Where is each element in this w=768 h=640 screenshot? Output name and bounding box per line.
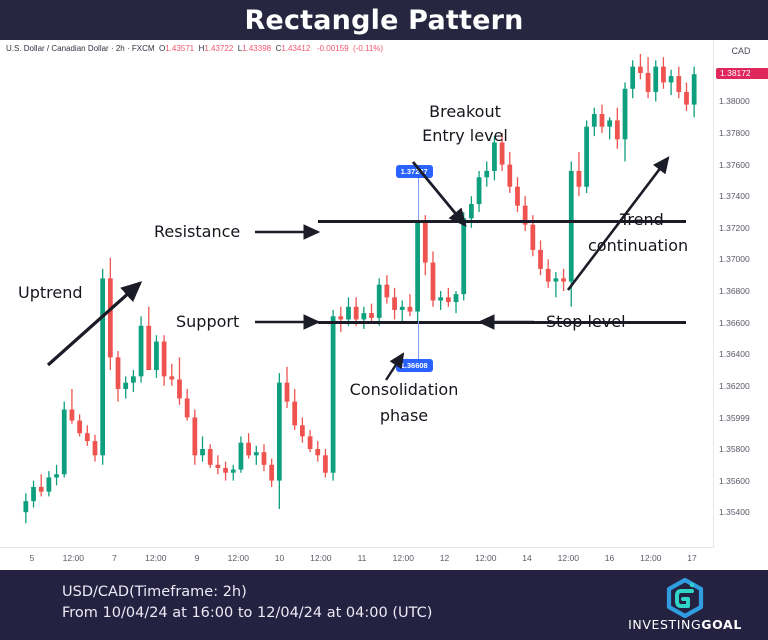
price-tick: 1.36800 bbox=[714, 286, 768, 296]
footer-line-2: From 10/04/24 at 16:00 to 12/04/24 at 04… bbox=[62, 603, 432, 624]
currency-label: CAD bbox=[714, 46, 768, 56]
price-tick: 1.36400 bbox=[714, 349, 768, 359]
time-tick: 9 bbox=[195, 553, 200, 563]
time-tick: 10 bbox=[275, 553, 284, 563]
brand-name-bold: GOAL bbox=[701, 617, 742, 632]
annotation-consolidation-line1: Consolidation bbox=[313, 380, 495, 400]
price-tick: 1.35400 bbox=[714, 507, 768, 517]
time-tick: 12 bbox=[440, 553, 449, 563]
investinggoal-hex-icon bbox=[620, 578, 750, 618]
page-title: Rectangle Pattern bbox=[244, 5, 523, 36]
annotation-stop-level: Stop level bbox=[546, 312, 626, 332]
entry-tag-stem bbox=[418, 178, 419, 220]
current-price-badge: 1.38172 bbox=[716, 68, 768, 79]
entry-price-tag[interactable]: 1.37247 bbox=[396, 165, 433, 178]
time-tick: 12:00 bbox=[558, 553, 579, 563]
time-tick: 12:00 bbox=[393, 553, 414, 563]
price-tick: 1.37000 bbox=[714, 254, 768, 264]
title-bar: Rectangle Pattern bbox=[0, 0, 768, 40]
stop-tag-stem bbox=[418, 321, 419, 359]
price-tick: 1.37600 bbox=[714, 160, 768, 170]
time-tick: 12:00 bbox=[145, 553, 166, 563]
time-tick: 12:00 bbox=[475, 553, 496, 563]
brand-name-thin: INVESTING bbox=[628, 617, 701, 632]
price-tick: 1.37800 bbox=[714, 128, 768, 138]
footer-line-1: USD/CAD(Timeframe: 2h) bbox=[62, 582, 432, 603]
time-tick: 11 bbox=[358, 553, 367, 563]
time-tick: 12:00 bbox=[228, 553, 249, 563]
time-axis[interactable]: 512:00712:00912:001012:001112:001212:001… bbox=[0, 547, 714, 570]
time-tick: 16 bbox=[605, 553, 614, 563]
price-tick: 1.37200 bbox=[714, 223, 768, 233]
stop-price-tag[interactable]: 1.36608 bbox=[396, 359, 433, 372]
price-tick: 1.37400 bbox=[714, 191, 768, 201]
time-tick: 12:00 bbox=[310, 553, 331, 563]
annotation-trend-line1: Trend bbox=[620, 210, 664, 230]
time-tick: 14 bbox=[522, 553, 531, 563]
price-tick: 1.38000 bbox=[714, 96, 768, 106]
annotation-support: Support bbox=[176, 312, 239, 332]
annotation-trend-line2: continuation bbox=[588, 236, 688, 256]
support-level-line bbox=[318, 321, 686, 324]
time-tick: 7 bbox=[112, 553, 117, 563]
annotation-resistance: Resistance bbox=[154, 222, 240, 242]
annotation-breakout-line1: Breakout bbox=[375, 102, 555, 122]
time-tick: 12:00 bbox=[63, 553, 84, 563]
price-tick: 1.36200 bbox=[714, 381, 768, 391]
screenshot-root: Rectangle Pattern U.S. Dollar / Canadian… bbox=[0, 0, 768, 640]
annotation-consolidation-line2: phase bbox=[313, 406, 495, 426]
time-tick: 5 bbox=[30, 553, 35, 563]
time-tick: 17 bbox=[687, 553, 696, 563]
annotation-uptrend: Uptrend bbox=[18, 283, 83, 303]
price-tick: 1.35600 bbox=[714, 476, 768, 486]
candlestick-series bbox=[0, 40, 714, 548]
footer-bar: USD/CAD(Timeframe: 2h) From 10/04/24 at … bbox=[0, 570, 768, 640]
time-tick: 12:00 bbox=[640, 553, 661, 563]
annotation-breakout-line2: Entry level bbox=[375, 126, 555, 146]
price-tick: 1.35800 bbox=[714, 444, 768, 454]
price-tick: 1.35999 bbox=[714, 413, 768, 423]
brand-logo: INVESTINGGOAL bbox=[620, 578, 750, 634]
footer-text: USD/CAD(Timeframe: 2h) From 10/04/24 at … bbox=[62, 582, 432, 624]
brand-name: INVESTINGGOAL bbox=[620, 617, 750, 632]
price-axis[interactable]: CAD 1.380001.378001.376001.374001.372001… bbox=[713, 40, 768, 570]
price-tick: 1.36600 bbox=[714, 318, 768, 328]
chart-panel: U.S. Dollar / Canadian Dollar · 2h · FXC… bbox=[0, 40, 768, 570]
